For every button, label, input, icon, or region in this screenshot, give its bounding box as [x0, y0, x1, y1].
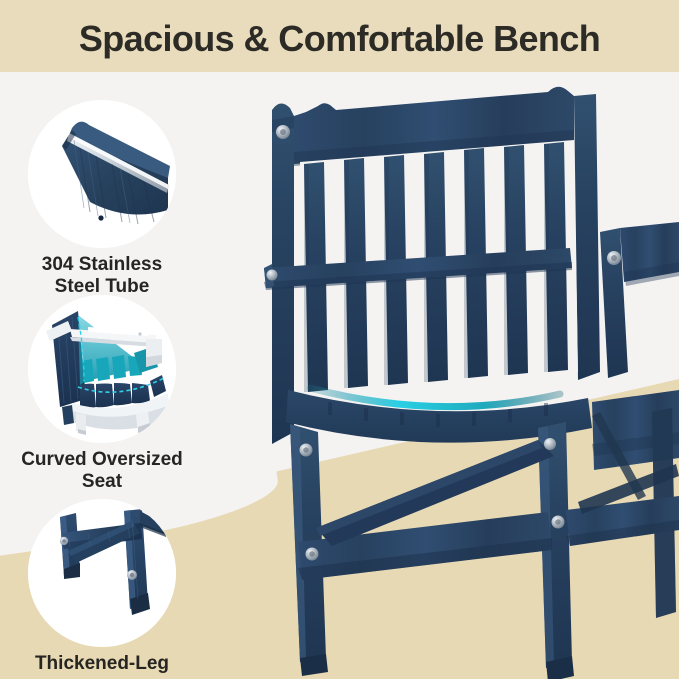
thickened-leg-icon	[28, 499, 176, 647]
callout-3-image	[28, 499, 176, 647]
callout-3-label: Thickened-Leg	[0, 653, 207, 675]
callout-3-label-line1: Thickened-Leg	[0, 653, 207, 675]
callout-stainless-steel-tube: 304 Stainless Steel Tube	[0, 100, 207, 297]
bench-illustration	[248, 72, 679, 679]
callout-1-image	[28, 100, 176, 248]
product-feature-banner: Spacious & Comfortable Bench	[0, 0, 679, 679]
callout-thickened-leg: Thickened-Leg	[0, 499, 207, 675]
callout-2-label: Curved Oversized Seat	[0, 449, 207, 492]
callout-1-label-line1: 304 Stainless	[0, 254, 207, 276]
callout-1-label: 304 Stainless Steel Tube	[0, 254, 207, 297]
stainless-steel-tube-icon	[28, 100, 176, 248]
callout-2-label-line2: Seat	[0, 471, 207, 493]
curved-oversized-seat-icon	[28, 295, 176, 443]
page-title: Spacious & Comfortable Bench	[0, 18, 679, 60]
callout-curved-oversized-seat: Curved Oversized Seat	[0, 295, 207, 492]
callout-2-label-line1: Curved Oversized	[0, 449, 207, 471]
product-image-bench	[248, 72, 679, 679]
callout-2-image	[28, 295, 176, 443]
